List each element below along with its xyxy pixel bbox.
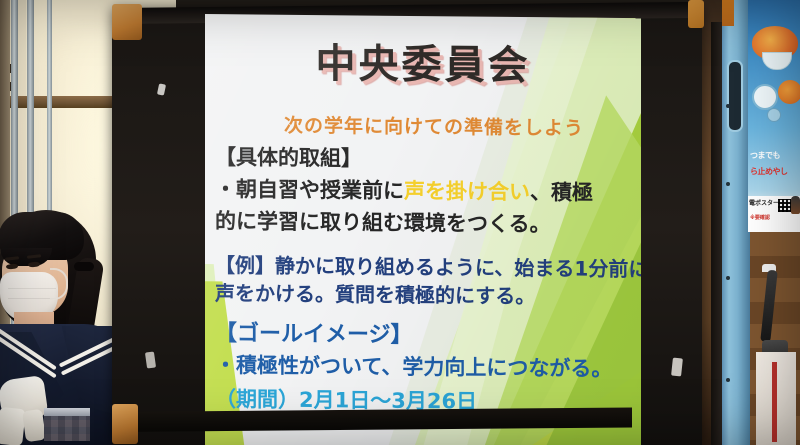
qr-code-icon [778, 199, 791, 212]
mask-fold [8, 288, 56, 289]
slide-example-line-1: 【例】静かに取り組めるように、始まる1分前に [215, 254, 641, 280]
slide-heading-initiatives: 【具体的取組】 [215, 146, 641, 174]
poster-illustration-cup [762, 52, 792, 70]
student-figure [0, 196, 126, 445]
board-scuff-mark [671, 358, 683, 377]
pillar-cap [722, 0, 734, 26]
poster-footer-text: 電ポスター [749, 198, 779, 207]
slide-body-line-1-post: 、積極 [530, 180, 593, 205]
board-bracket-top-right [688, 0, 704, 28]
pillar-screw [726, 378, 730, 382]
slide-goal-line: ・積極性がついて、学力向上につながる。 [215, 354, 641, 382]
neckerchief-tail [22, 409, 46, 442]
pillar-slot [727, 60, 743, 132]
pillar-screw [726, 276, 730, 280]
board-bracket-top-left [112, 4, 142, 40]
poster-badge-icon [752, 84, 778, 110]
slide-example-line-2: 声をかける。質問を積極的にする。 [215, 282, 641, 308]
board-bracket-bottom-left [112, 404, 138, 444]
slide-body-line-1-highlight: 声を掛け合い [404, 179, 530, 204]
slide-subtitle: 次の学年に向けての準備をしよう [205, 110, 641, 141]
slide-body-line-1: ・朝自習や授業前に声を掛け合い、積極 [215, 178, 641, 206]
wall-poster: つまでも ら止めやし 電ポスター ※要確認 [748, 0, 800, 232]
neckerchief-tail [0, 407, 26, 445]
slide-heading-goal: 【ゴールイメージ】 [215, 322, 641, 351]
slide-body-line-1-pre: ・朝自習や授業前に [215, 177, 404, 203]
pillar-screw [726, 104, 730, 108]
hair-tie [74, 262, 94, 271]
poster-footer-note: ※要確認 [750, 214, 770, 221]
screenshot-scene: つまでも ら止めやし 電ポスター ※要確認 [0, 0, 800, 445]
redacted-nametag [44, 416, 90, 441]
poster-line-1: つまでも [748, 150, 800, 161]
poster-line-2: ら止めやし [748, 166, 800, 177]
nametag-backing [44, 408, 90, 416]
slide-canvas: 中央委員会 次の学年に向けての準備をしよう 【具体的取組】 ・朝自習や授業前に声… [205, 14, 641, 445]
slide-title: 中央委員会 [205, 30, 641, 92]
projected-slide: 中央委員会 次の学年に向けての準備をしよう 【具体的取組】 ・朝自習や授業前に声… [205, 14, 641, 445]
poster-badge-icon [767, 108, 781, 122]
poster-badge-icon [778, 80, 800, 104]
slide-text-block: 中央委員会 次の学年に向けての準備をしよう 【具体的取組】 ・朝自習や授業前に声… [205, 14, 641, 445]
bag-stripe [772, 362, 777, 442]
mask-fold [8, 298, 56, 299]
pillar-screw [726, 182, 730, 186]
slide-body-line-2: 的に学習に取り組む環境をつくる。 [215, 210, 641, 238]
poster-mascot-icon [791, 196, 800, 214]
